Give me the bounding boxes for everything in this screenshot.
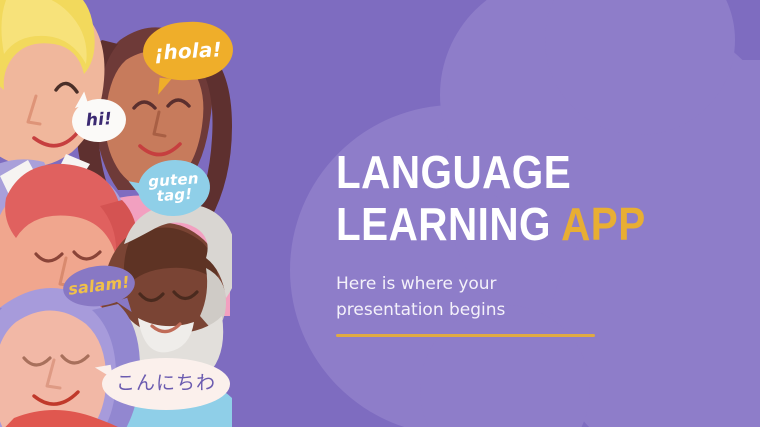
speech-bubble-konnichiwa: こんにちわ bbox=[102, 358, 230, 410]
presentation-slide: ¡hola! hi! guten tag! salam! こんにちわ LANGU… bbox=[0, 0, 760, 427]
speech-bubble-konnichiwa-text: こんにちわ bbox=[116, 374, 216, 393]
page-title-accent: APP bbox=[561, 198, 646, 250]
speech-bubble-hi-text: hi! bbox=[85, 111, 112, 130]
page-title: LANGUAGELEARNING APP bbox=[336, 146, 670, 250]
title-divider bbox=[336, 334, 595, 337]
speech-bubble-salam-text: salam! bbox=[67, 274, 130, 298]
speech-bubble-konnichiwa-tail bbox=[95, 365, 113, 382]
page-title-line-1: LANGUAGE bbox=[336, 146, 571, 198]
slide-text-block: LANGUAGELEARNING APP Here is where your … bbox=[336, 146, 716, 337]
speech-bubble-hola-tail bbox=[158, 78, 171, 96]
page-title-line-2: LEARNING bbox=[336, 198, 561, 250]
speech-bubble-guten-tag-text: guten tag! bbox=[148, 171, 200, 205]
page-subtitle: Here is where your presentation begins bbox=[336, 250, 716, 323]
speech-bubble-guten-tag-tail bbox=[126, 181, 147, 200]
speech-bubble-hola-text: ¡hola! bbox=[154, 39, 223, 63]
